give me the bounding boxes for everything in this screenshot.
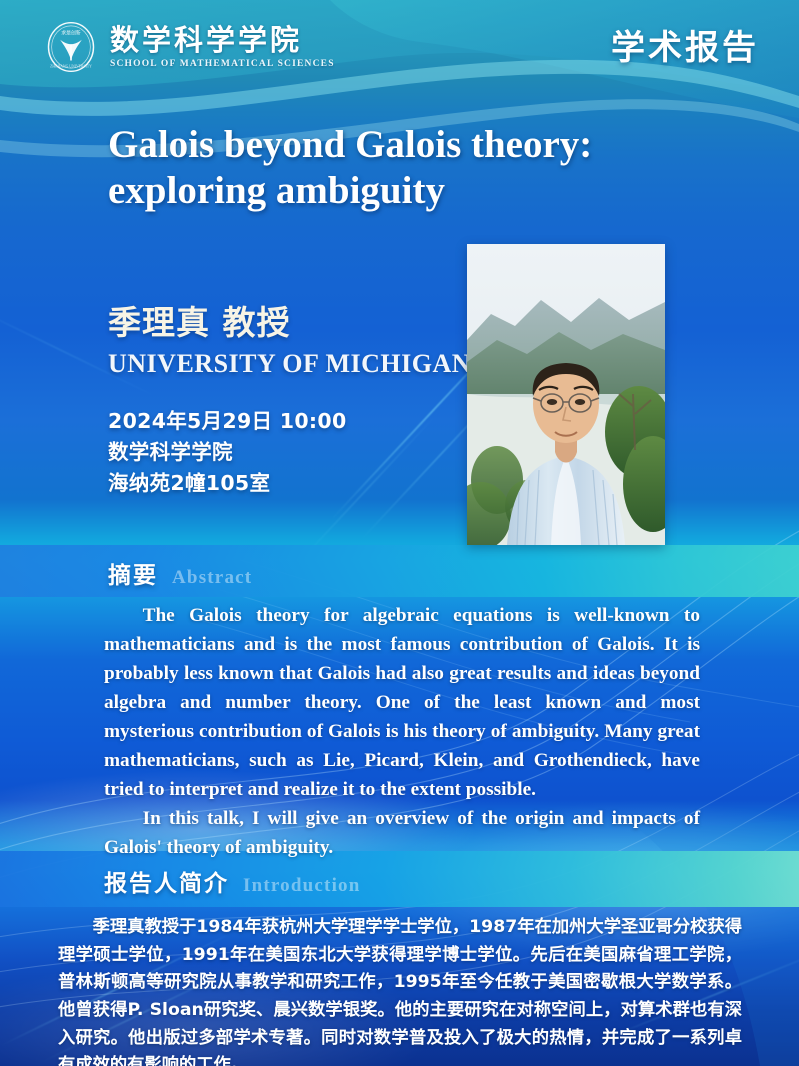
speaker-block: 季理真 教授 UNIVERSITY OF MICHIGAN 2024年5月29日… [108,296,471,499]
speaker-biography-text: 季理真教授于1984年获杭州大学理学学士学位，1987年在加州大学圣亚哥分校获得… [58,914,742,1066]
abstract-text: The Galois theory for algebraic equation… [104,602,700,862]
institution-name-cn: 数学科学学院 [110,25,335,55]
speaker-photo [467,244,665,545]
institution-logo-group: 求是创新 ZHEJIANG UNIVERSITY 数学科学学院 SCHOOL O… [44,20,335,74]
talk-venue-room: 海纳苑2幢105室 [108,468,471,499]
speaker-name: 季理真 教授 [108,296,471,344]
abstract-heading-cn: 摘要 [108,556,158,590]
speaker-portrait-image [467,244,665,545]
abstract-paragraph-1: The Galois theory for algebraic equation… [104,602,700,805]
svg-text:求是创新: 求是创新 [61,29,81,36]
talk-venue-building: 数学科学学院 [108,437,471,468]
institution-name-en: SCHOOL OF MATHEMATICAL SCIENCES [110,59,335,69]
talk-title: Galois beyond Galois theory: exploring a… [108,122,728,214]
abstract-paragraph-2: In this talk, I will give an overview of… [104,805,700,863]
introduction-section-header: 报告人简介 Introduction [104,864,361,898]
introduction-heading-en: Introduction [243,875,361,897]
introduction-heading-cn: 报告人简介 [104,864,229,898]
abstract-section-header: 摘要 Abstract [108,556,252,590]
speaker-affiliation: UNIVERSITY OF MICHIGAN [108,349,471,379]
poster-type-badge: 学术报告 [611,20,759,69]
abstract-heading-en: Abstract [172,567,252,589]
talk-logistics: 2024年5月29日 10:00 数学科学学院 海纳苑2幢105室 [108,406,471,499]
poster-header: 求是创新 ZHEJIANG UNIVERSITY 数学科学学院 SCHOOL O… [0,0,799,100]
seminar-poster: 求是创新 ZHEJIANG UNIVERSITY 数学科学学院 SCHOOL O… [0,0,799,1066]
svg-text:ZHEJIANG UNIVERSITY: ZHEJIANG UNIVERSITY [50,65,92,69]
talk-datetime: 2024年5月29日 10:00 [108,406,471,437]
zju-seal-logo-icon: 求是创新 ZHEJIANG UNIVERSITY [44,20,98,74]
